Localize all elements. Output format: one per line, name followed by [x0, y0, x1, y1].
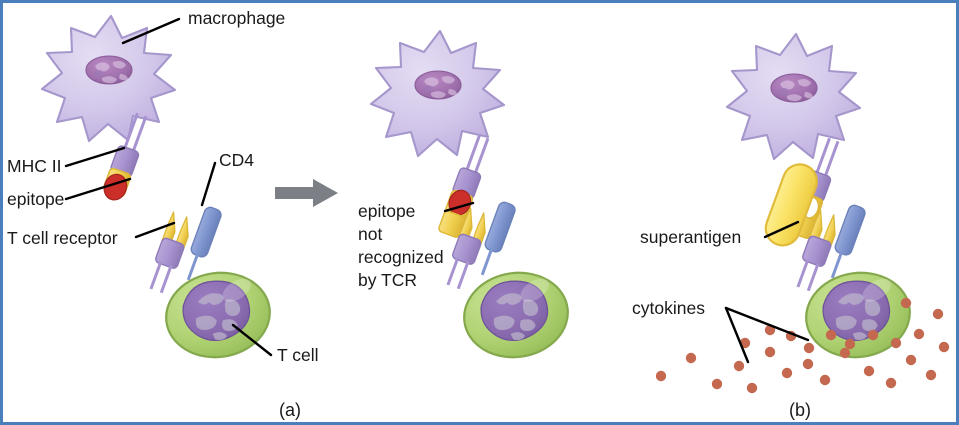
cytokine-dot — [868, 330, 878, 340]
cytokine-dot — [734, 361, 744, 371]
caption-panel-b: (b) — [789, 400, 811, 420]
panel-b: epitope not recognized by TCR — [358, 31, 573, 364]
caption-panel-a: (a) — [279, 400, 301, 420]
cytokine-dot — [820, 375, 830, 385]
cytokine-dot — [864, 366, 874, 376]
cytokine-dot — [845, 339, 855, 349]
cytokine-dot — [765, 347, 775, 357]
cytokine-dot — [803, 359, 813, 369]
tcell-b — [459, 266, 574, 364]
cytokine-dot — [939, 342, 949, 352]
cytokine-dot — [891, 338, 901, 348]
tcell-a — [161, 266, 276, 364]
label-epitope-line3: recognized — [358, 247, 444, 267]
process-arrow — [275, 179, 338, 207]
label-tcell-receptor: T cell receptor — [7, 228, 118, 248]
cytokine-dot — [886, 378, 896, 388]
panel-c: superantigen superantigen cytokines — [632, 34, 949, 393]
label-cytokines: cytokines — [632, 298, 705, 318]
label-epitope-line4: by TCR — [358, 270, 417, 290]
label-superantigen-text: superantigen — [640, 227, 741, 247]
panel-a: macrophage MHC II epitope T cell recepto… — [7, 8, 319, 365]
cytokine-dot — [926, 370, 936, 380]
label-epitope: epitope — [7, 189, 64, 209]
leader-macrophage — [123, 19, 179, 43]
cytokine-dot — [933, 309, 943, 319]
cytokine-dot — [901, 298, 911, 308]
macrophage-cell-c — [727, 34, 860, 159]
cytokine-dot — [747, 383, 757, 393]
label-tcell: T cell — [277, 345, 319, 365]
cytokine-dot — [906, 355, 916, 365]
cytokine-dot — [656, 371, 666, 381]
cytokine-dot — [782, 368, 792, 378]
cytokine-dot — [686, 353, 696, 363]
macrophage-cell-a — [42, 16, 175, 141]
cytokine-dot — [804, 343, 814, 353]
figure-container: macrophage MHC II epitope T cell recepto… — [0, 0, 959, 425]
cytokine-dot — [826, 330, 836, 340]
cytokine-dot — [914, 329, 924, 339]
label-macrophage: macrophage — [188, 8, 285, 28]
label-epitope-line1: epitope — [358, 201, 415, 221]
cytokine-dot — [840, 348, 850, 358]
diagram-svg: macrophage MHC II epitope T cell recepto… — [3, 3, 959, 425]
label-cd4: CD4 — [219, 150, 254, 170]
macrophage-cell-b — [371, 31, 504, 156]
leader-cd4 — [202, 163, 215, 205]
label-mhc2: MHC II — [7, 156, 61, 176]
tcell-c — [801, 266, 916, 364]
cytokine-dot — [712, 379, 722, 389]
label-epitope-line2: not — [358, 224, 382, 244]
